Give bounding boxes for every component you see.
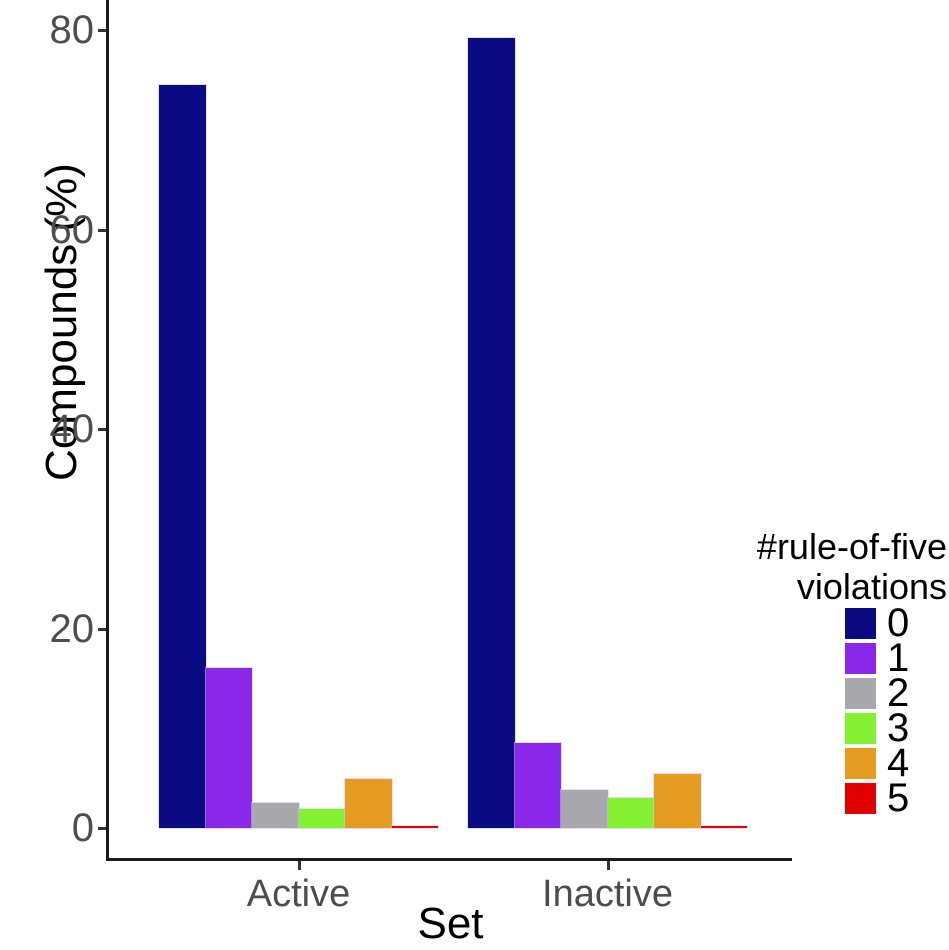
y-tick-label-20: 20 <box>4 609 94 649</box>
bar-inactive-violations-1 <box>515 743 562 828</box>
bar-active-violations-4 <box>345 779 392 828</box>
legend-swatch-2 <box>845 678 876 709</box>
y-tick-label-0: 0 <box>4 808 94 848</box>
chart-canvas: Compounds (%) 020406080 ActiveInactive S… <box>0 0 949 950</box>
bar-active-violations-3 <box>299 809 346 828</box>
bar-inactive-violations-3 <box>608 798 655 828</box>
x-tick-mark-active <box>298 861 301 870</box>
y-tick-mark-0 <box>98 827 106 830</box>
y-tick-label-60: 60 <box>4 210 94 250</box>
legend-items: 012345 <box>845 607 945 817</box>
bar-inactive-violations-4 <box>654 774 701 828</box>
y-axis-title: Compounds (%) <box>36 112 88 532</box>
legend-swatch-3 <box>845 713 876 744</box>
y-tick-mark-40 <box>98 428 106 431</box>
bar-inactive-violations-5 <box>701 826 748 829</box>
bar-active-violations-0 <box>159 85 206 828</box>
bar-active-violations-1 <box>206 668 253 828</box>
bar-active-violations-5 <box>392 826 439 829</box>
bar-inactive-violations-0 <box>468 38 515 828</box>
y-tick-label-80: 80 <box>4 10 94 50</box>
y-tick-label-40: 40 <box>4 409 94 449</box>
legend-swatch-5 <box>845 783 876 814</box>
y-tick-mark-60 <box>98 229 106 232</box>
legend-title-line-2: violations <box>700 567 949 607</box>
x-axis-line <box>106 858 792 861</box>
legend-swatch-4 <box>845 748 876 779</box>
x-tick-mark-inactive <box>607 861 610 870</box>
legend-label-5: 5 <box>887 778 909 818</box>
legend-swatch-1 <box>845 643 876 674</box>
bar-inactive-violations-2 <box>561 790 608 828</box>
plot-area <box>109 0 792 828</box>
legend-swatch-0 <box>845 608 876 639</box>
y-tick-mark-20 <box>98 628 106 631</box>
legend-title-line-1: #rule-of-five <box>700 527 949 567</box>
x-axis-title: Set <box>109 900 792 948</box>
y-tick-mark-80 <box>98 29 106 32</box>
legend-item-5[interactable]: 5 <box>845 782 945 817</box>
legend: #rule-of-five violations 012345 <box>700 527 949 607</box>
bar-active-violations-2 <box>252 803 299 828</box>
